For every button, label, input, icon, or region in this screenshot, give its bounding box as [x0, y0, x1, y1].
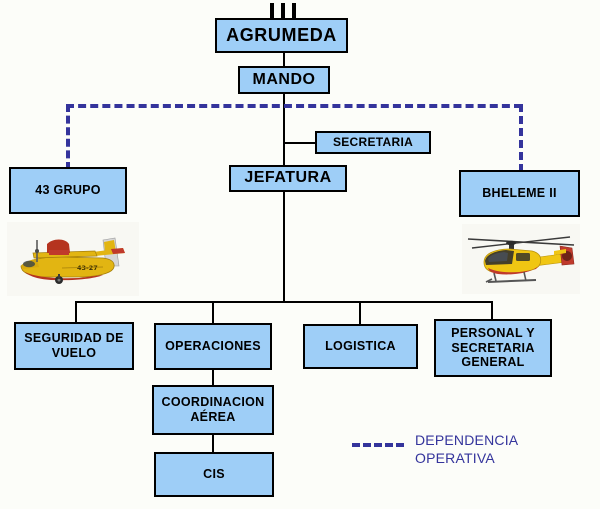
helicopter-photo [462, 224, 580, 294]
node-cis-label: CIS [156, 467, 272, 482]
node-agrumeda[interactable]: AGRUMEDA [215, 18, 348, 53]
node-operaciones[interactable]: OPERACIONES [154, 323, 272, 370]
horizontal-distribution-bus [75, 301, 492, 303]
node-logistica[interactable]: LOGISTICA [303, 324, 418, 369]
connector-coordinacion-cis [212, 435, 214, 452]
aircraft-photo: 43-27 [7, 222, 139, 296]
node-mando[interactable]: MANDO [238, 66, 330, 94]
node-mando-label: MANDO [240, 71, 328, 90]
connector-agrumeda-mando [283, 53, 285, 66]
node-43-grupo-label: 43 GRUPO [11, 183, 125, 198]
top-tick-3 [292, 3, 296, 18]
node-coordinacion-aerea-label: COORDINACION AÉREA [154, 395, 272, 425]
node-operaciones-label: OPERACIONES [156, 339, 270, 354]
connector-operaciones-coordinacion [212, 370, 214, 385]
node-personal-y-secretaria-general-label: PERSONAL Y SECRETARIA GENERAL [436, 326, 550, 370]
node-seguridad-de-vuelo-label: SEGURIDAD DE VUELO [16, 331, 132, 361]
legend: DEPENDENCIA OPERATIVA [352, 432, 518, 467]
drop-seguridad [75, 301, 77, 322]
node-jefatura-label: JEFATURA [231, 169, 345, 188]
dependency-line-left-drop [66, 104, 70, 170]
legend-label: DEPENDENCIA OPERATIVA [415, 432, 518, 467]
node-bheleme-ii[interactable]: BHELEME II [459, 170, 580, 217]
top-tick-2 [281, 3, 285, 18]
node-agrumeda-label: AGRUMEDA [217, 25, 346, 46]
drop-personal [491, 301, 493, 319]
top-tick-1 [270, 3, 274, 18]
node-personal-y-secretaria-general[interactable]: PERSONAL Y SECRETARIA GENERAL [434, 319, 552, 377]
dependency-line-right-drop [519, 104, 523, 172]
node-43-grupo[interactable]: 43 GRUPO [9, 167, 127, 214]
connector-jefatura-secretaria [283, 142, 315, 144]
drop-operaciones [212, 301, 214, 323]
node-secretaria[interactable]: SECRETARIA [315, 131, 431, 154]
dependency-line-horizontal [66, 104, 522, 108]
node-seguridad-de-vuelo[interactable]: SEGURIDAD DE VUELO [14, 322, 134, 370]
svg-text:43-27: 43-27 [77, 264, 98, 272]
connector-jefatura-bus [283, 192, 285, 302]
node-coordinacion-aerea[interactable]: COORDINACION AÉREA [152, 385, 274, 435]
organization-chart: AGRUMEDA MANDO SECRETARIA JEFATURA 43 GR… [0, 0, 600, 509]
node-secretaria-label: SECRETARIA [317, 135, 429, 149]
drop-logistica [359, 301, 361, 324]
node-logistica-label: LOGISTICA [305, 339, 416, 354]
node-cis[interactable]: CIS [154, 452, 274, 497]
node-jefatura[interactable]: JEFATURA [229, 165, 347, 192]
legend-dashed-line-swatch [352, 443, 404, 447]
node-bheleme-ii-label: BHELEME II [461, 186, 578, 201]
